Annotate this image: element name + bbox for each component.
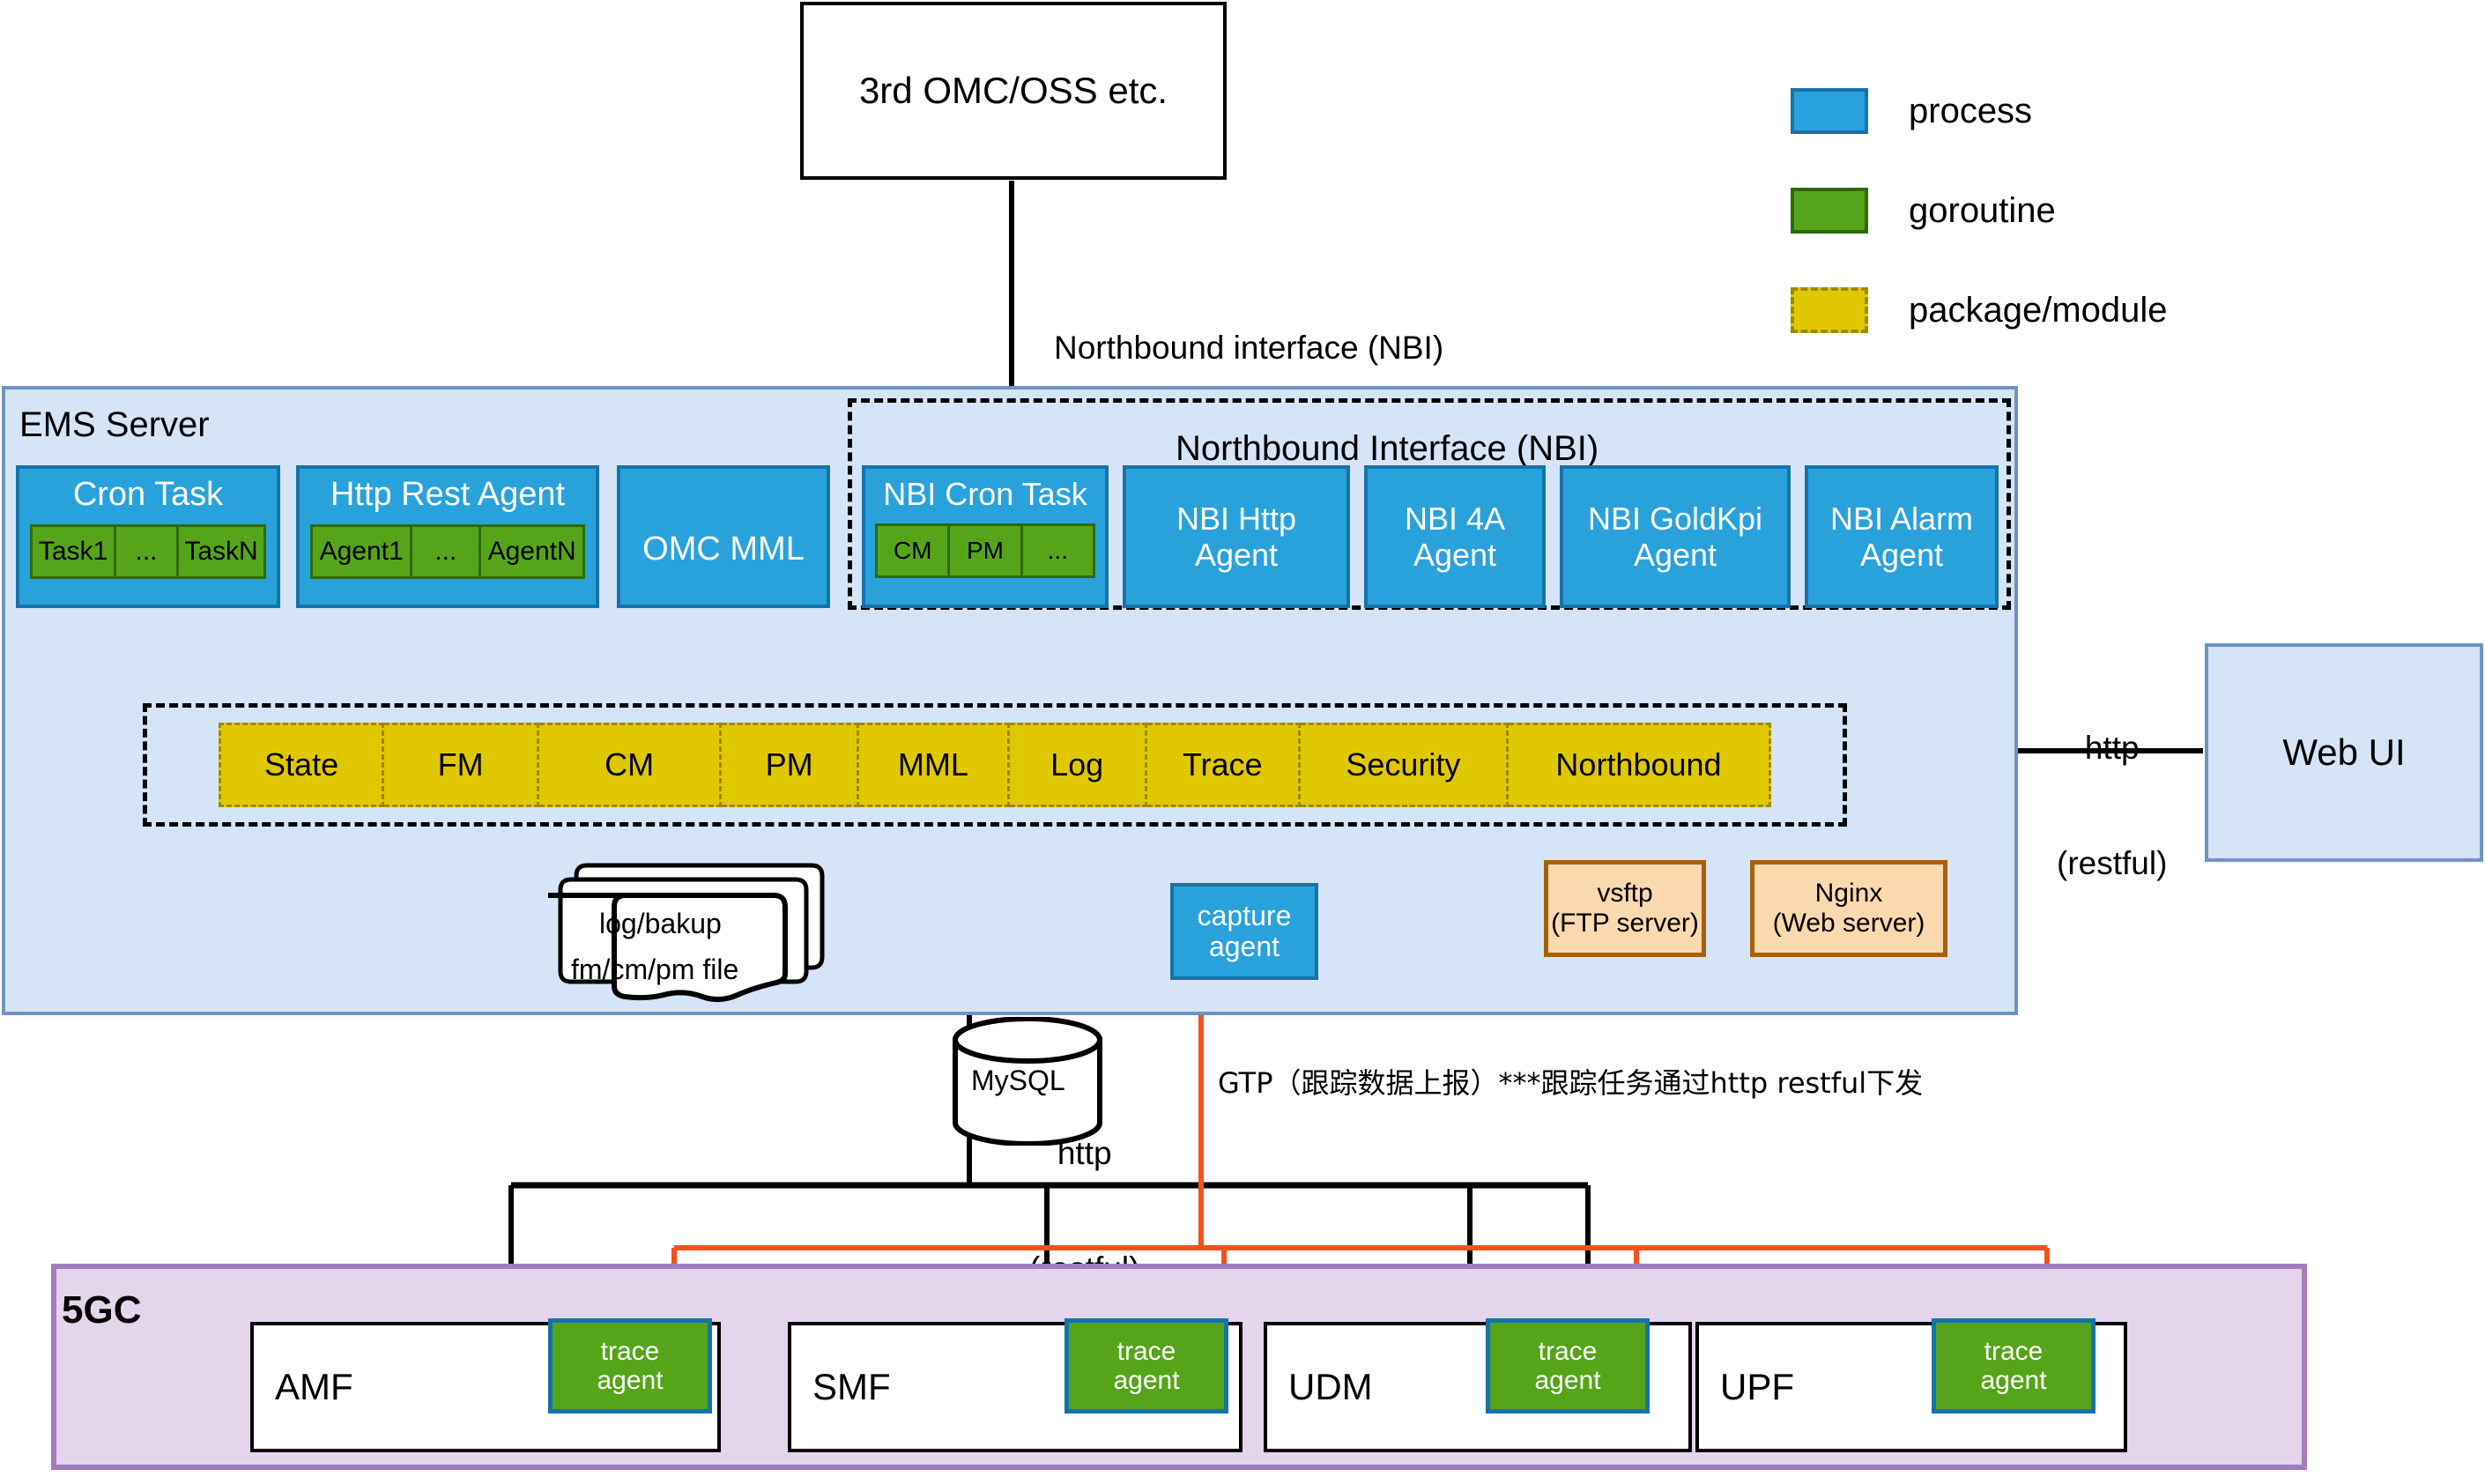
process-cron-task[interactable]: Cron Task Task1 ... TaskN	[16, 465, 280, 608]
goroutine-taskn[interactable]: TaskN	[179, 524, 266, 579]
nf-smf-label: SMF	[812, 1366, 891, 1408]
legend-row-module: package/module	[1791, 287, 2168, 333]
process-nbi-cron-task[interactable]: NBI Cron Task CM PM ...	[862, 465, 1109, 608]
ems-server-title: EMS Server	[19, 405, 210, 445]
trace-agent-upf[interactable]: trace agent	[1932, 1318, 2096, 1414]
nbi-group-title: Northbound Interface (NBI)	[1176, 429, 1599, 469]
legend-label-process: process	[1909, 92, 2032, 131]
process-cron-task-label: Cron Task	[73, 476, 223, 514]
trace-agent-upf-line1: trace	[1984, 1337, 2044, 1366]
process-nbi-http-agent-label: NBI Http Agent	[1176, 501, 1296, 574]
southbound-http-line1: http	[1029, 1134, 1139, 1173]
trace-agent-amf[interactable]: trace agent	[548, 1318, 712, 1414]
module-log[interactable]: Log	[1010, 723, 1147, 807]
module-trace[interactable]: Trace	[1147, 723, 1301, 807]
trace-agent-udm[interactable]: trace agent	[1486, 1318, 1650, 1414]
process-http-rest-agent[interactable]: Http Rest Agent Agent1 ... AgentN	[296, 465, 599, 608]
file-storage-stack: log/bakup fm/cm/pm file	[536, 862, 827, 1003]
file-storage-line2: fm/cm/pm file	[571, 953, 738, 986]
trace-agent-udm-line1: trace	[1539, 1337, 1598, 1366]
process-nbi-cron-task-label: NBI Cron Task	[883, 476, 1087, 513]
legend-row-goroutine: goroutine	[1791, 188, 2056, 234]
server-nginx-line2: (Web server)	[1773, 909, 1925, 939]
trace-agent-amf-line2: agent	[597, 1366, 663, 1395]
nf-amf-label: AMF	[275, 1366, 353, 1408]
web-ui-link-line1: http	[2057, 729, 2167, 768]
server-vsftp-line1: vsftp	[1597, 879, 1652, 909]
legend-row-process: process	[1791, 88, 2032, 134]
diagram-canvas: 3rd OMC/OSS etc. Northbound interface (N…	[0, 0, 2485, 1484]
goroutine-agent1[interactable]: Agent1	[310, 524, 412, 579]
external-omc-oss-box: 3rd OMC/OSS etc.	[800, 2, 1227, 180]
external-omc-oss-label: 3rd OMC/OSS etc.	[859, 70, 1168, 112]
trace-agent-udm-line2: agent	[1534, 1366, 1600, 1395]
legend-label-module: package/module	[1909, 291, 2168, 330]
process-omc-mml[interactable]: OMC MML	[617, 465, 830, 608]
module-pm[interactable]: PM	[722, 723, 859, 807]
module-cm[interactable]: CM	[539, 723, 722, 807]
goroutine-nbi-pm[interactable]: PM	[950, 523, 1022, 578]
process-nbi-alarm-agent[interactable]: NBI Alarm Agent	[1805, 465, 1999, 608]
server-vsftp[interactable]: vsftp (FTP server)	[1544, 860, 1706, 957]
nf-udm-label: UDM	[1288, 1366, 1373, 1408]
goroutine-nbi-ellipsis[interactable]: ...	[1023, 523, 1095, 578]
goroutine-task1[interactable]: Task1	[30, 524, 116, 579]
module-security[interactable]: Security	[1301, 723, 1509, 807]
server-nginx-line1: Nginx	[1815, 879, 1883, 909]
nf-upf-label: UPF	[1720, 1366, 1794, 1408]
process-nbi-goldkpi-agent[interactable]: NBI GoldKpi Agent	[1560, 465, 1791, 608]
trace-agent-smf-line1: trace	[1117, 1337, 1176, 1366]
capture-agent-line1: capture	[1198, 901, 1292, 931]
process-nbi-4a-agent-label: NBI 4A Agent	[1405, 501, 1505, 574]
server-nginx[interactable]: Nginx (Web server)	[1750, 860, 1947, 957]
goroutine-agentn[interactable]: AgentN	[481, 524, 585, 579]
goroutine-nbi-cm[interactable]: CM	[875, 523, 950, 578]
process-nbi-goldkpi-agent-label: NBI GoldKpi Agent	[1588, 501, 1762, 574]
trace-agent-smf-line2: agent	[1113, 1366, 1179, 1395]
file-storage-line1: log/bakup	[599, 908, 722, 940]
web-ui-link-label: http (restful)	[2057, 652, 2167, 960]
legend-swatch-goroutine	[1791, 188, 1868, 234]
server-vsftp-line2: (FTP server)	[1551, 909, 1699, 939]
trace-agent-smf[interactable]: trace agent	[1064, 1318, 1228, 1414]
web-ui-link-line2: (restful)	[2057, 844, 2167, 883]
gtp-note-label: GTP（跟踪数据上报）***跟踪任务通过http restful下发	[1218, 1061, 1923, 1102]
web-ui-label: Web UI	[2282, 731, 2405, 774]
process-nbi-alarm-agent-label: NBI Alarm Agent	[1830, 501, 1973, 574]
legend: process goroutine package/module	[1791, 88, 2355, 335]
process-nbi-http-agent[interactable]: NBI Http Agent	[1123, 465, 1350, 608]
process-capture-agent[interactable]: capture agent	[1170, 883, 1318, 980]
legend-swatch-process	[1791, 88, 1868, 134]
nbi-link-line1: Northbound interface (NBI)	[1054, 329, 1443, 367]
legend-label-goroutine: goroutine	[1909, 191, 2056, 231]
web-ui-box[interactable]: Web UI	[2205, 643, 2483, 862]
capture-agent-line2: agent	[1209, 931, 1280, 962]
module-bar: State FM CM PM MML Log Trace Security No…	[219, 723, 1771, 807]
trace-agent-amf-line1: trace	[601, 1337, 660, 1366]
fivegc-title: 5GC	[62, 1288, 141, 1332]
process-http-rest-agent-label: Http Rest Agent	[330, 476, 565, 514]
legend-swatch-module	[1791, 287, 1868, 333]
module-state[interactable]: State	[219, 723, 384, 807]
process-omc-mml-label: OMC MML	[642, 531, 805, 568]
module-fm[interactable]: FM	[384, 723, 539, 807]
trace-agent-upf-line2: agent	[1980, 1366, 2046, 1395]
module-mml[interactable]: MML	[859, 723, 1010, 807]
goroutine-agent-ellipsis[interactable]: ...	[412, 524, 481, 579]
process-nbi-4a-agent[interactable]: NBI 4A Agent	[1364, 465, 1546, 608]
module-northbound[interactable]: Northbound	[1509, 723, 1771, 807]
goroutine-task-ellipsis[interactable]: ...	[116, 524, 179, 579]
